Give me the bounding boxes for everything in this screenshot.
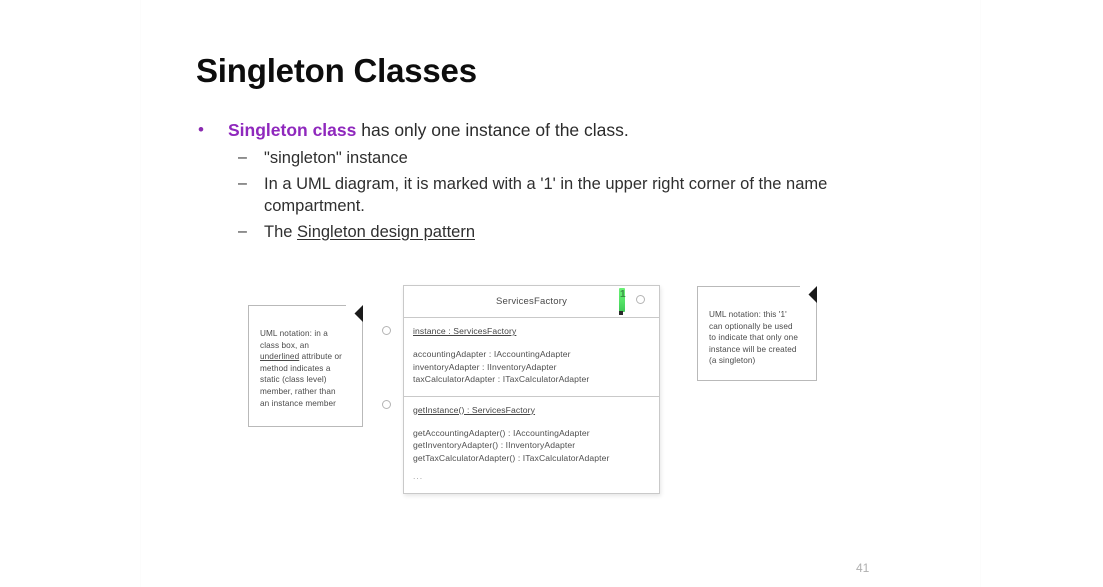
note-right-line-5: (a singleton) (709, 355, 805, 367)
bullet-emphasis-text: Singleton class (228, 120, 356, 140)
note-uml-notation-singleton: UML notation: this '1' can optionally be… (697, 286, 817, 381)
attribute-static-instance: instance : ServicesFactory (413, 325, 650, 337)
bullet-sublist: – "singleton" instance – In a UML diagra… (194, 147, 894, 243)
bullet-level2-item-1: – "singleton" instance (194, 147, 894, 170)
bullet-dash-icon: – (238, 147, 247, 170)
note-right-line-4: instance will be created (709, 344, 805, 356)
note-right-line-2: can optionally be used (709, 321, 805, 333)
attribute-row: inventoryAdapter : IInventoryAdapter (413, 361, 650, 373)
note-left-line-7: an instance member (260, 398, 351, 410)
note-left-line-6: member, rather than (260, 386, 351, 398)
operation-row: getInventoryAdapter() : IInventoryAdapte… (413, 439, 650, 451)
bullet-level2-prefix-3: The (264, 223, 297, 241)
note-left-line-2: class box, an (260, 340, 351, 352)
attribute-compartment: instance : ServicesFactory accountingAda… (404, 318, 659, 397)
uml-class-box-services-factory: ServicesFactory 1 instance : ServicesFac… (403, 285, 660, 494)
bullet-level2-item-3: – The Singleton design pattern (194, 221, 894, 244)
note-right-line-3: to indicate that only one (709, 332, 805, 344)
slide-canvas: Singleton Classes • Singleton class has … (0, 0, 1103, 587)
bullet-dash-icon: – (238, 173, 247, 196)
page-title: Singleton Classes (196, 52, 477, 90)
bullet-dot-icon: • (198, 118, 204, 142)
class-name-compartment: ServicesFactory 1 (404, 286, 659, 318)
singleton-design-pattern-link[interactable]: Singleton design pattern (297, 223, 475, 241)
class-name-label: ServicesFactory (496, 296, 567, 307)
bullet-dash-icon: – (238, 221, 247, 244)
operation-row: getTaxCalculatorAdapter() : ITaxCalculat… (413, 452, 650, 464)
operation-ellipsis: ... (413, 470, 650, 482)
uml-diagram: UML notation: in a class box, an underli… (0, 0, 1103, 587)
bullet-level2-text-1: "singleton" instance (264, 149, 408, 167)
note-uml-notation-underline: UML notation: in a class box, an underli… (248, 305, 363, 427)
operation-compartment: getInstance() : ServicesFactory getAccou… (404, 397, 659, 493)
page-number: 41 (856, 561, 869, 575)
singleton-digit-label: 1 (620, 290, 626, 300)
attribute-row: taxCalculatorAdapter : ITaxCalculatorAda… (413, 373, 650, 385)
bullet-level2-item-2: – In a UML diagram, it is marked with a … (194, 173, 894, 218)
note-left-underlined-word: underlined (260, 352, 299, 361)
note-left-line-4: method indicates a (260, 363, 351, 375)
callout-anchor-circle-icon (382, 326, 391, 335)
highlighter-tick-icon (619, 311, 623, 315)
bullet-level2-text-2: In a UML diagram, it is marked with a '1… (264, 175, 827, 216)
note-left-line-5: static (class level) (260, 374, 351, 386)
singleton-multiplicity-highlight: 1 (618, 288, 627, 314)
bullet-level1: • Singleton class has only one instance … (194, 118, 894, 142)
bullet-level1-text: has only one instance of the class. (356, 120, 628, 140)
note-left-line-1: UML notation: in a (260, 328, 351, 340)
background-seam-left (140, 0, 141, 587)
note-right-body: UML notation: this '1' can optionally be… (698, 287, 816, 375)
callout-anchor-circle-icon (382, 400, 391, 409)
background-seam-right (980, 0, 981, 587)
note-left-line-3: underlined attribute or (260, 351, 351, 363)
note-right-line-1: UML notation: this '1' (709, 309, 805, 321)
callout-anchor-circle-icon (636, 295, 645, 304)
bullet-list: • Singleton class has only one instance … (194, 118, 894, 246)
note-left-line-3-rest: attribute or (299, 352, 342, 361)
operation-row: getAccountingAdapter() : IAccountingAdap… (413, 427, 650, 439)
operation-static-get-instance: getInstance() : ServicesFactory (413, 404, 650, 416)
note-left-body: UML notation: in a class box, an underli… (249, 306, 362, 417)
attribute-row: accountingAdapter : IAccountingAdapter (413, 348, 650, 360)
